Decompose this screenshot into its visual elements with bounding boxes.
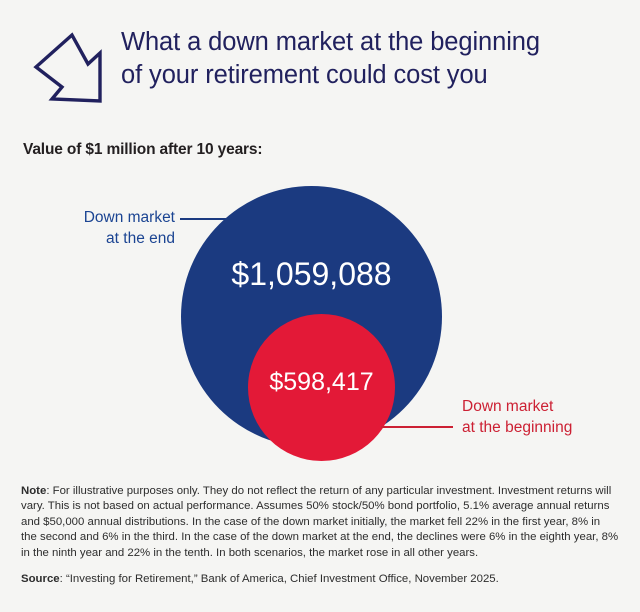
page-title-line-1: What a down market at the beginning xyxy=(121,26,621,59)
header: What a down market at the beginning of y… xyxy=(0,0,640,128)
page-title: What a down market at the beginning of y… xyxy=(121,26,621,92)
callout-right-line-1: Down market xyxy=(462,396,637,417)
callout-left-line-2: at the end xyxy=(10,228,175,249)
infographic-page: What a down market at the beginning of y… xyxy=(0,0,640,612)
note-label: Note xyxy=(21,485,46,497)
source-label: Source xyxy=(21,573,60,585)
page-title-line-2: of your retirement could cost you xyxy=(121,59,621,92)
note-paragraph: Note: For illustrative purposes only. Th… xyxy=(21,484,619,561)
value-down-market-at-beginning: $598,417 xyxy=(248,368,395,397)
callout-right-line-2: at the beginning xyxy=(462,417,637,438)
callout-label-down-market-at-beginning: Down market at the beginning xyxy=(462,396,637,438)
bubble-chart: $1,059,088 $598,417 Down market at the e… xyxy=(0,165,640,475)
callout-label-down-market-at-end: Down market at the end xyxy=(10,207,175,249)
leader-line-right xyxy=(381,426,453,428)
footnotes: Note: For illustrative purposes only. Th… xyxy=(21,484,619,587)
callout-left-line-1: Down market xyxy=(10,207,175,228)
note-text: : For illustrative purposes only. They d… xyxy=(21,485,618,559)
down-right-arrow-icon xyxy=(30,27,112,109)
chart-subtitle: Value of $1 million after 10 years: xyxy=(23,141,262,159)
source-text: : “Investing for Retirement,” Bank of Am… xyxy=(60,573,499,585)
source-paragraph: Source: “Investing for Retirement,” Bank… xyxy=(21,572,619,587)
value-down-market-at-end: $1,059,088 xyxy=(181,256,442,293)
leader-line-left xyxy=(180,218,238,220)
